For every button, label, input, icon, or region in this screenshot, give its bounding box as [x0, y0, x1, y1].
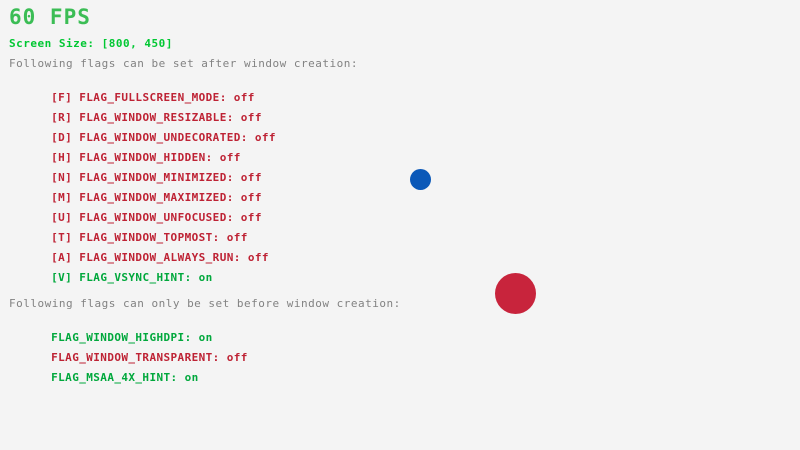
fps-counter: 60 FPS	[9, 7, 91, 28]
flag-value: off	[234, 91, 255, 104]
game-canvas[interactable]: 60 FPS Screen Size: [800, 450] Following…	[0, 0, 800, 450]
flags-before-creation-list: FLAG_WINDOW_HIGHDPI: on FLAG_WINDOW_TRAN…	[9, 318, 248, 378]
flag-key: [F]	[51, 91, 72, 104]
flag-row-window-highdpi: FLAG_WINDOW_HIGHDPI: on	[9, 318, 248, 338]
flag-value: off	[241, 111, 262, 124]
flag-name: FLAG_WINDOW_UNDECORATED:	[79, 131, 248, 144]
flag-name: FLAG_WINDOW_TOPMOST:	[79, 231, 219, 244]
flag-name: FLAG_WINDOW_RESIZABLE:	[79, 111, 234, 124]
flag-value: off	[241, 191, 262, 204]
screen-size-label: Screen Size: [800, 450]	[9, 38, 173, 49]
flag-key: [V]	[51, 271, 72, 284]
flag-name: FLAG_WINDOW_UNFOCUSED:	[79, 211, 234, 224]
flag-key: [U]	[51, 211, 72, 224]
flag-row-fullscreen-mode[interactable]: [F] FLAG_FULLSCREEN_MODE: off	[9, 78, 276, 98]
flag-value: off	[241, 211, 262, 224]
flag-key: [N]	[51, 171, 72, 184]
flag-key: [D]	[51, 131, 72, 144]
small-blue-ball	[410, 169, 431, 190]
flag-value: off	[255, 131, 276, 144]
flag-name: FLAG_WINDOW_ALWAYS_RUN:	[79, 251, 241, 264]
flag-value: off	[248, 251, 269, 264]
flag-name: FLAG_WINDOW_MAXIMIZED:	[79, 191, 234, 204]
flag-key: [H]	[51, 151, 72, 164]
flag-key: [R]	[51, 111, 72, 124]
flag-value: on	[199, 331, 213, 344]
flag-name: FLAG_VSYNC_HINT:	[79, 271, 191, 284]
flag-value: off	[227, 231, 248, 244]
flag-name: FLAG_WINDOW_TRANSPARENT:	[51, 351, 220, 364]
flags-after-creation-list: [F] FLAG_FULLSCREEN_MODE: off [R] FLAG_W…	[9, 78, 276, 278]
flag-value: off	[220, 151, 241, 164]
flag-value: off	[241, 171, 262, 184]
flag-key: [A]	[51, 251, 72, 264]
flag-value: on	[185, 371, 199, 384]
flag-key: [T]	[51, 231, 72, 244]
flag-name: FLAG_FULLSCREEN_MODE:	[79, 91, 226, 104]
flag-key: [M]	[51, 191, 72, 204]
flag-name: FLAG_MSAA_4X_HINT:	[51, 371, 177, 384]
large-red-ball	[495, 273, 536, 314]
flag-value: on	[199, 271, 213, 284]
after-creation-heading: Following flags can be set after window …	[9, 58, 358, 69]
flag-value: off	[227, 351, 248, 364]
before-creation-heading: Following flags can only be set before w…	[9, 298, 401, 309]
flag-name: FLAG_WINDOW_HIDDEN:	[79, 151, 212, 164]
flag-name: FLAG_WINDOW_HIGHDPI:	[51, 331, 191, 344]
flag-name: FLAG_WINDOW_MINIMIZED:	[79, 171, 234, 184]
